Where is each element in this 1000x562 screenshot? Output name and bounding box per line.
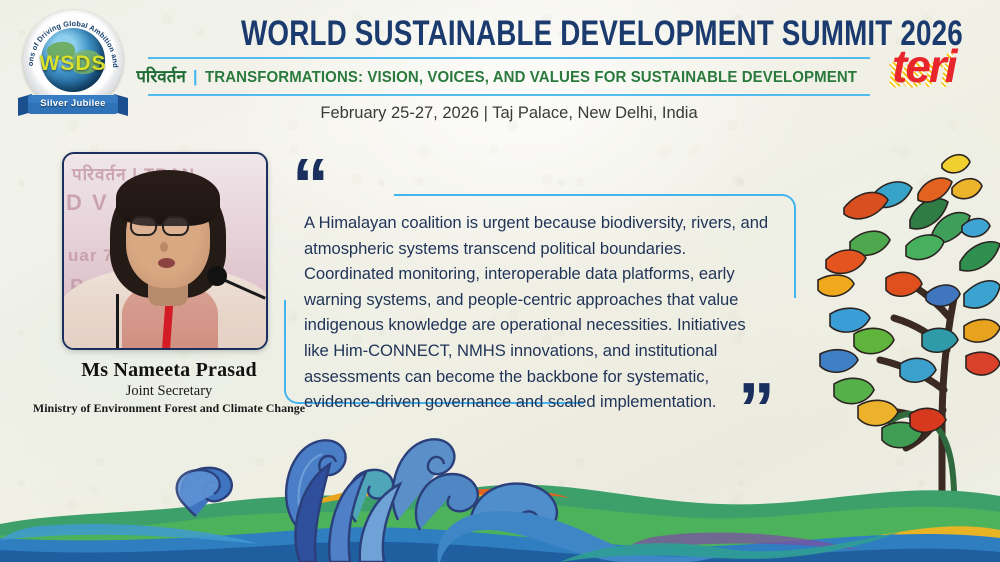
poster-header: 25 Editions of Driving Global Ambition a… [0, 0, 1000, 140]
divider-bottom [148, 94, 870, 96]
microphone-icon [207, 266, 227, 286]
teri-logo: teri teri [892, 36, 988, 98]
photo-glasses-bridge [157, 224, 163, 226]
title-block: WORLD SUSTAINABLE DEVELOPMENT SUMMIT 202… [148, 14, 870, 123]
silver-jubilee-ribbon: Silver Jubilee [18, 94, 128, 118]
waves-illustration [0, 412, 1000, 562]
photo-nose [160, 242, 168, 252]
teri-logo-text: teri [892, 36, 988, 98]
speaker-name: Ms Nameeta Prasad [62, 359, 276, 382]
speaker-card: परिवर्तन | TRAN D V FOR uar 7, 20 P W D [62, 152, 276, 416]
photo-mouth [158, 258, 175, 268]
ribbon-label: Silver Jubilee [18, 94, 128, 114]
venue-date-line: February 25-27, 2026 | Taj Palace, New D… [148, 104, 870, 123]
seal-acronym: WSDS [23, 52, 123, 76]
wsds-seal-logo: 25 Editions of Driving Global Ambition a… [14, 8, 132, 128]
decorative-waves [0, 412, 1000, 562]
quote-block: “ A Himalayan coalition is urgent becaus… [286, 150, 806, 440]
subtitle-hindi: परिवर्तन [136, 64, 186, 87]
microphone-stand-icon [116, 294, 119, 350]
page-title: WORLD SUSTAINABLE DEVELOPMENT SUMMIT 202… [241, 14, 963, 54]
speaker-role: Joint Secretary [62, 383, 276, 400]
photo-glasses-right [162, 216, 189, 236]
subtitle-row: परिवर्तन | TRANSFORMATIONS: VISION, VOIC… [148, 59, 870, 91]
poster-canvas: 25 Editions of Driving Global Ambition a… [0, 0, 1000, 562]
divider-top [148, 57, 870, 59]
subtitle-separator: | [193, 67, 198, 87]
speaker-photo: परिवर्तन | TRAN D V FOR uar 7, 20 P W D [62, 152, 268, 350]
quote-text: A Himalayan coalition is urgent because … [304, 210, 772, 415]
subtitle-english: TRANSFORMATIONS: VISION, VOICES, AND VAL… [205, 69, 857, 87]
photo-glasses-left [130, 216, 157, 236]
